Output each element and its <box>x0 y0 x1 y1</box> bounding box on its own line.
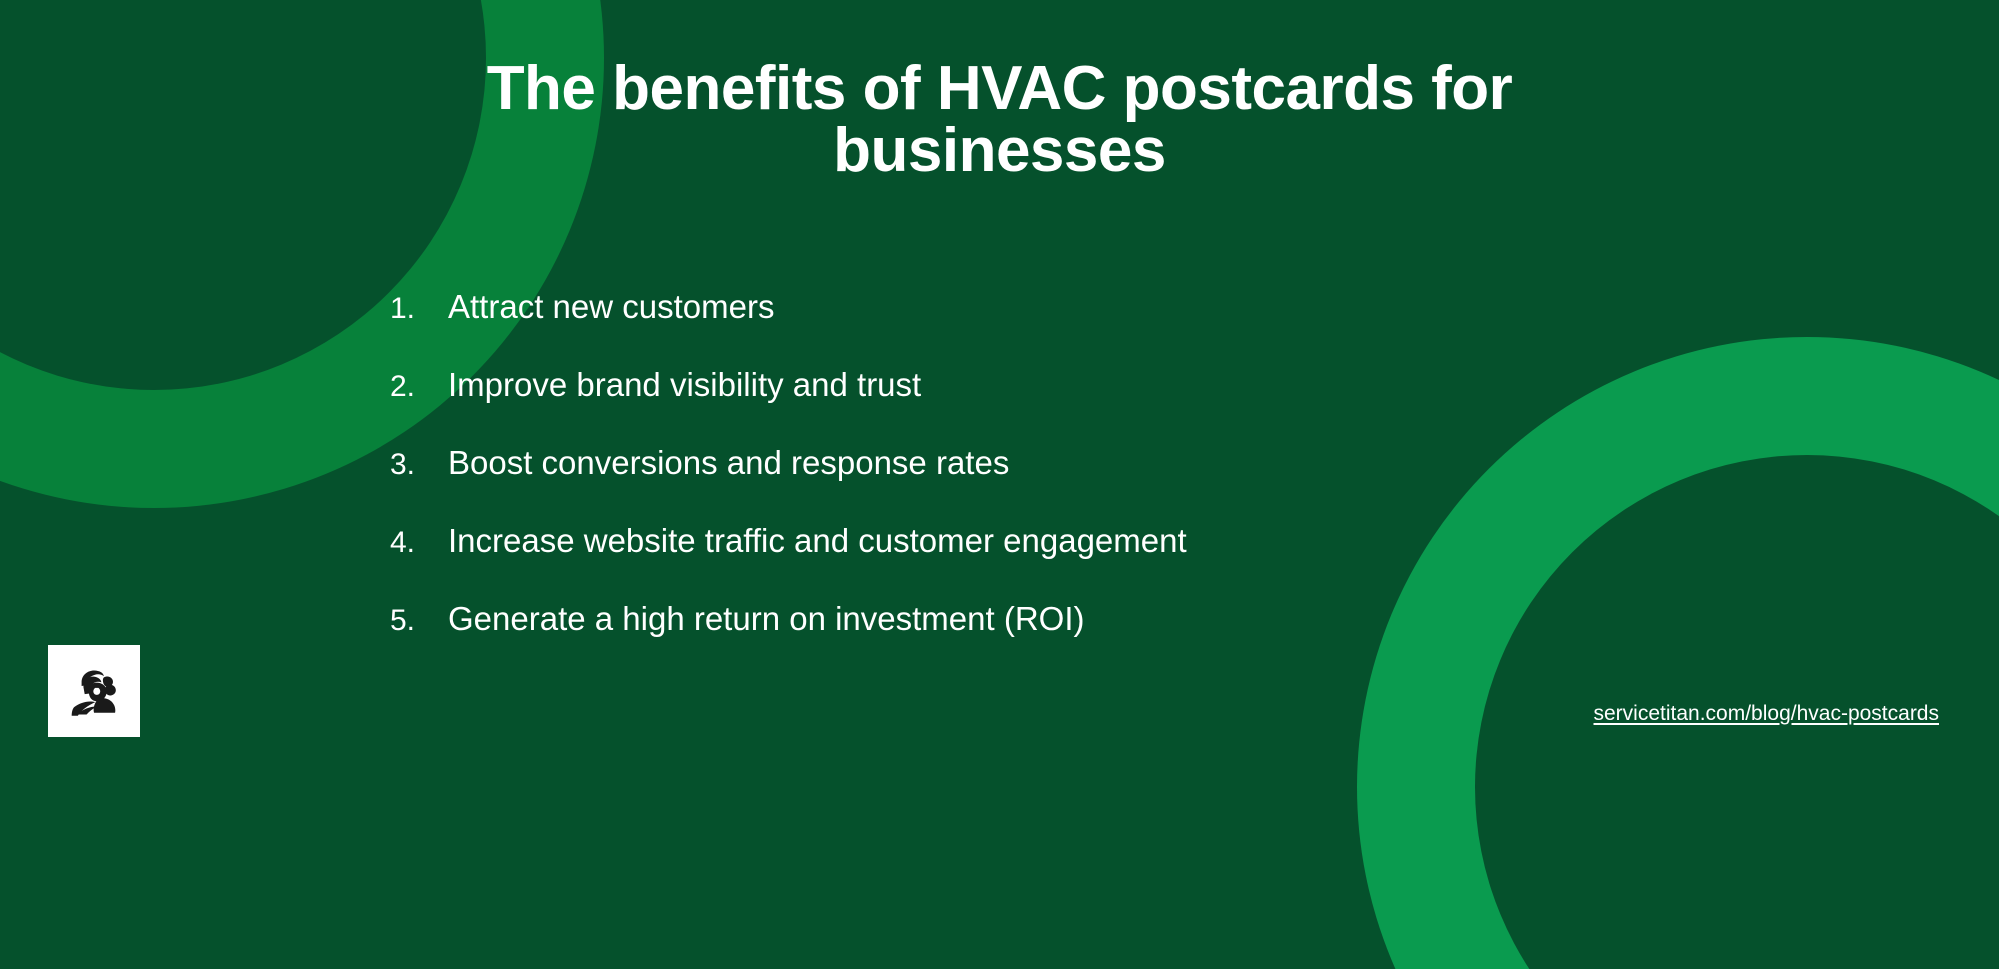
slide-canvas: The benefits of HVAC postcards for busin… <box>0 0 1999 969</box>
list-item: 2. Improve brand visibility and trust <box>390 366 1590 444</box>
list-item: 3. Boost conversions and response rates <box>390 444 1590 522</box>
servicetitan-logo-tile <box>48 645 140 737</box>
list-item-number: 3. <box>390 448 448 482</box>
slide-title: The benefits of HVAC postcards for busin… <box>410 58 1590 182</box>
list-item: 5. Generate a high return on investment … <box>390 600 1590 678</box>
slide-title-line-1: The benefits of HVAC postcards for <box>410 58 1590 120</box>
list-item-number: 4. <box>390 526 448 560</box>
list-item-number: 5. <box>390 604 448 638</box>
list-item-number: 2. <box>390 370 448 404</box>
list-item-number: 1. <box>390 292 448 326</box>
list-item: 1. Attract new customers <box>390 288 1590 366</box>
benefits-numbered-list: 1. Attract new customers 2. Improve bran… <box>390 288 1590 678</box>
list-item-label: Attract new customers <box>448 288 774 326</box>
list-item-label: Increase website traffic and customer en… <box>448 522 1187 560</box>
source-url-link[interactable]: servicetitan.com/blog/hvac-postcards <box>1594 702 1940 726</box>
list-item: 4. Increase website traffic and customer… <box>390 522 1590 600</box>
list-item-label: Improve brand visibility and trust <box>448 366 921 404</box>
servicetitan-titan-head-logo-icon <box>63 660 125 722</box>
slide-title-line-2: businesses <box>410 120 1590 182</box>
list-item-label: Generate a high return on investment (RO… <box>448 600 1084 638</box>
list-item-label: Boost conversions and response rates <box>448 444 1009 482</box>
